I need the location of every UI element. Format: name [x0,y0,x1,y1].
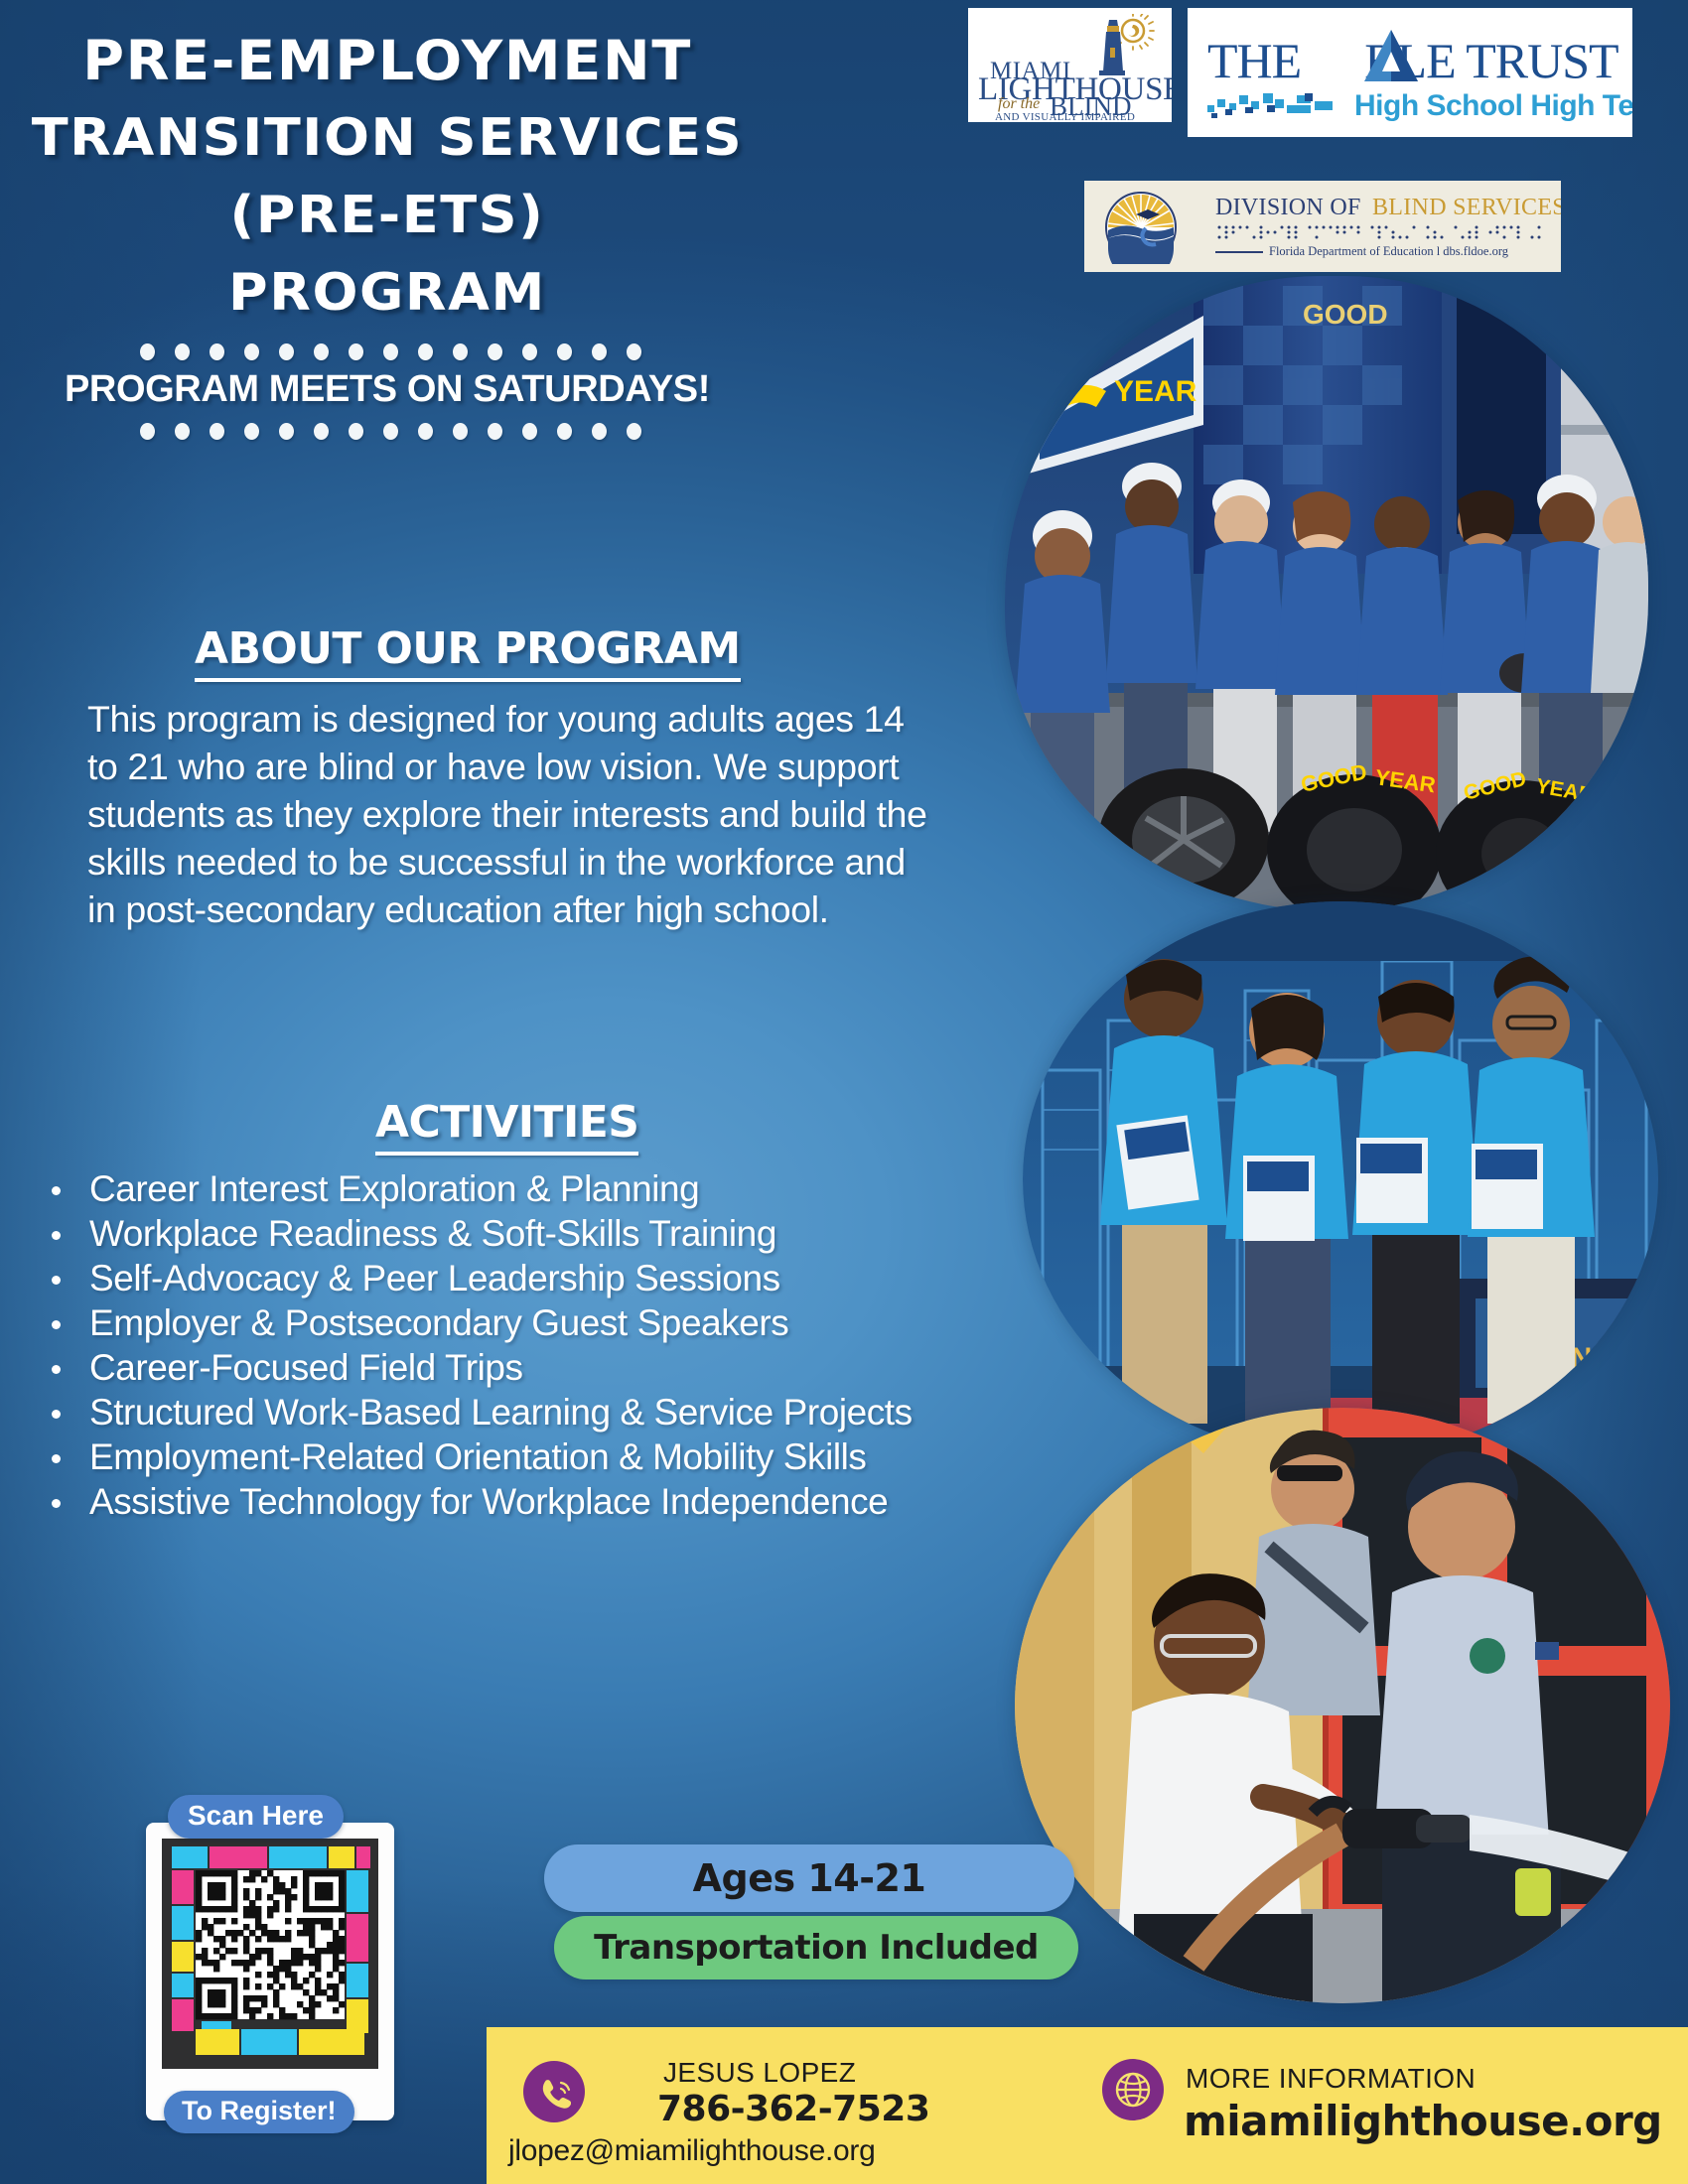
contact-name: JESUS LOPEZ [663,2057,856,2089]
divider-dot [349,343,363,360]
photo-students-with-flyers: LEGEND [1023,901,1658,1457]
dotted-divider-top [30,343,745,360]
divider-dot [557,343,572,360]
section-heading-activities: ACTIVITIES [375,1097,638,1156]
activity-item: Self-Advocacy & Peer Leadership Sessions [40,1256,1043,1300]
contact-footer-bar: JESUS LOPEZ 786-362-7523 jlopez@miamilig… [487,2027,1688,2184]
divider-dot [279,343,294,360]
divider-dot [522,423,537,440]
page-title-line-4: PROGRAM [16,254,760,332]
activity-item: Workplace Readiness & Soft-Skills Traini… [40,1211,1043,1256]
divider-dot [453,343,468,360]
able-trust-pixel-mark-icon [1205,91,1350,119]
activities-list: Career Interest Exploration & PlanningWo… [40,1166,1043,1524]
divider-dot [418,423,433,440]
lighthouse-sun-icon [1085,14,1163,75]
title-block: PRE-EMPLOYMENT TRANSITION SERVICES (PRE-… [30,22,745,448]
svg-text:YEAR: YEAR [1114,375,1197,408]
divider-dot [210,343,224,360]
divider-dot [279,423,294,440]
logo-dbs-line1: DIVISION OF [1215,195,1361,221]
contact-phone[interactable]: 786-362-7523 [657,2089,929,2129]
activity-item: Employer & Postsecondary Guest Speakers [40,1300,1043,1345]
divider-dot [140,423,155,440]
division-blind-services-logo: DIVISION OF BLIND SERVICES Florida Depar… [1084,181,1561,272]
divider-dot [175,423,190,440]
divider-dot [210,423,224,440]
activity-item: Assistive Technology for Workplace Indep… [40,1479,1043,1524]
divider-dot [314,343,329,360]
activity-item: Career Interest Exploration & Planning [40,1166,1043,1211]
divider-dot [349,423,363,440]
divider-dot [488,343,502,360]
flyer-page: PRE-EMPLOYMENT TRANSITION SERVICES (PRE-… [0,0,1688,2184]
divider-dot [592,423,607,440]
phone-icon [523,2061,585,2122]
website-url[interactable]: miamilighthouse.org [1184,2097,1662,2145]
divider-dot [522,343,537,360]
svg-text:GOOD: GOOD [1303,299,1388,330]
photo-goodyear-event: YEAR GOOD [1005,276,1648,911]
page-title-line-3: (PRE-ETS) [16,177,760,254]
activity-item: Career-Focused Field Trips [40,1345,1043,1390]
qr-register-block[interactable]: Scan Here To Register! [136,1795,404,2152]
qr-scan-here-label: Scan Here [168,1795,344,1839]
miami-lighthouse-logo: MIAMI LIGHTHOUSE for the BLIND AND VISUA… [968,8,1172,122]
logo-at-line1: THE [1207,33,1301,88]
braille-dots-icon [1215,224,1543,240]
about-program-body: This program is designed for young adult… [87,695,941,933]
footer-contact-column: JESUS LOPEZ 786-362-7523 jlopez@miamilig… [487,2027,1082,2184]
logo-at-tagline: High School High Tech [1354,89,1632,123]
divider-dot [244,423,259,440]
divider-dot [488,423,502,440]
logo-dbs-rule [1215,251,1263,253]
able-trust-logo: THEBLE TRUST [1188,8,1632,137]
divider-dot [627,423,641,440]
logo-dbs-footer: Florida Department of Education l dbs.fl… [1269,244,1508,259]
footer-website-column: MORE INFORMATION miamilighthouse.org [1082,2027,1688,2184]
activity-item: Structured Work-Based Learning & Service… [40,1390,1043,1434]
logo-dbs-line2: BLIND SERVICES [1372,195,1561,221]
divider-dot [383,343,398,360]
subtitle-meeting-days: PROGRAM MEETS ON SATURDAYS! [30,368,745,411]
globe-icon [1102,2059,1164,2120]
divider-dot [592,343,607,360]
qr-code-icon[interactable] [162,1839,378,2069]
dotted-divider-bottom [30,423,745,440]
heading-underline [195,678,741,682]
qr-to-register-label: To Register! [164,2091,354,2133]
page-title-line-2: TRANSITION SERVICES [16,99,760,177]
contact-email[interactable]: jlopez@miamilighthouse.org [508,2134,876,2168]
section-heading-activities-text: ACTIVITIES [375,1097,638,1148]
divider-dot [244,343,259,360]
divider-dot [175,343,190,360]
divider-dot [453,423,468,440]
divider-dot [418,343,433,360]
photo-fire-station-visit [1015,1408,1670,2003]
logo-ml-line5: AND VISUALLY IMPAIRED [995,111,1135,122]
page-title-line-1: PRE-EMPLOYMENT [16,22,760,99]
divider-dot [627,343,641,360]
divider-dot [140,343,155,360]
heading-underline [375,1152,638,1156]
badge-ages: Ages 14-21 [544,1844,1074,1912]
activity-item: Employment-Related Orientation & Mobilit… [40,1434,1043,1479]
divider-dot [383,423,398,440]
badge-transportation: Transportation Included [554,1916,1078,1979]
divider-dot [557,423,572,440]
divider-dot [314,423,329,440]
qr-card [146,1823,394,2120]
able-trust-a-mark-icon [1360,28,1422,83]
more-information-label: MORE INFORMATION [1186,2063,1476,2095]
section-heading-about-text: ABOUT OUR PROGRAM [195,623,741,674]
section-heading-about: ABOUT OUR PROGRAM [195,623,741,682]
dbs-sunburst-icon [1102,191,1180,264]
